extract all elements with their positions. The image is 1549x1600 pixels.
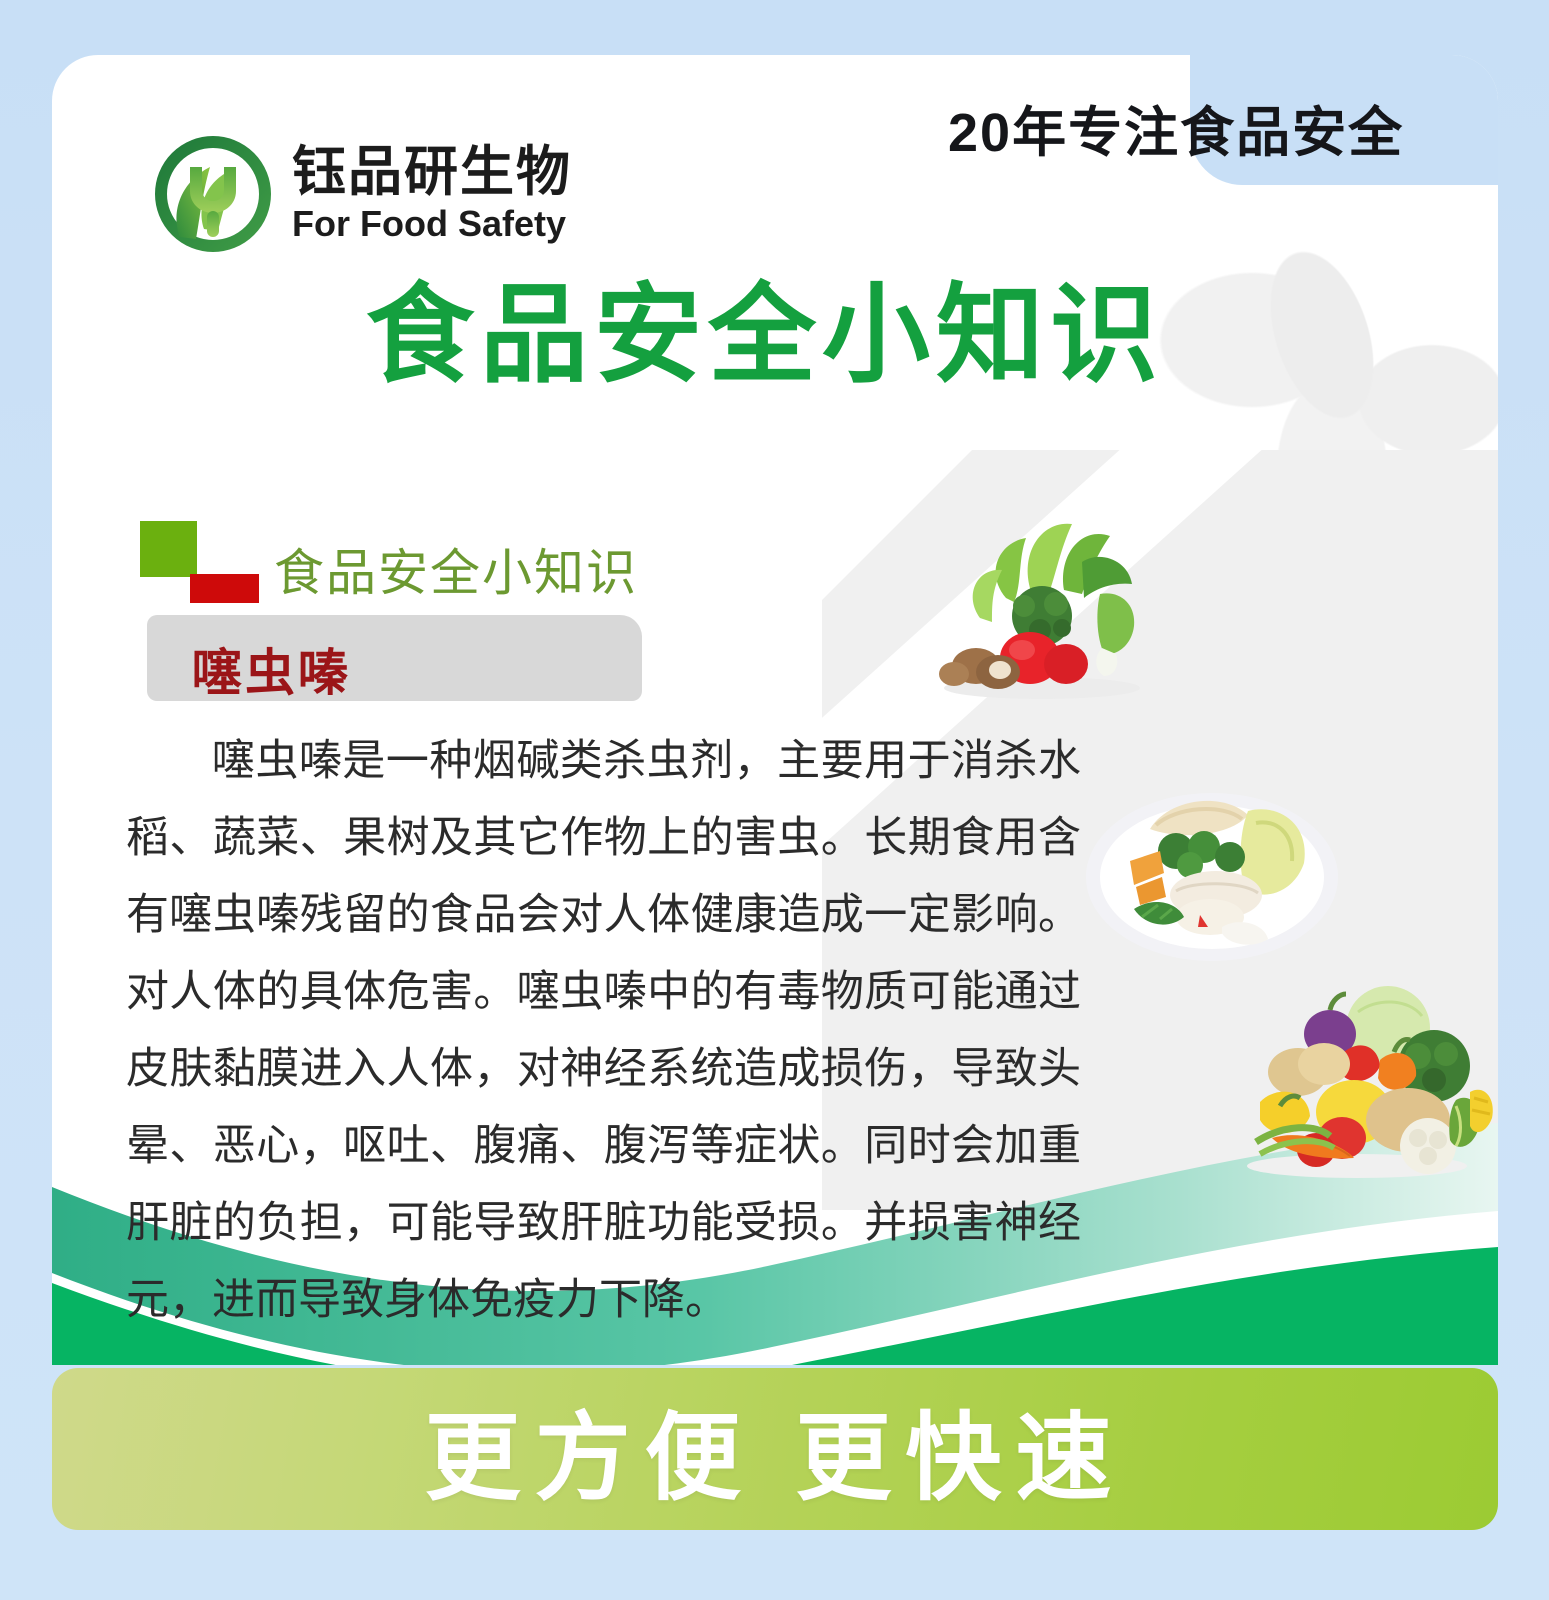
section-marker-green-square: [140, 521, 197, 577]
brand-name-en: For Food Safety: [292, 203, 572, 244]
substance-name: 噻虫嗪: [192, 633, 351, 705]
bottom-banner: 更方便 更快速: [52, 1368, 1498, 1530]
mixed-vegetables-photo: [1212, 960, 1497, 1190]
article-body: 噻虫嗪是一种烟碱类杀虫剂，主要用于消杀水稻、蔬菜、果树及其它作物上的害虫。长期食…: [126, 723, 1081, 1339]
brand-tagline: 20年专注食品安全: [948, 88, 1404, 167]
poster-root: 钰品研生物 For Food Safety 食品安全小知识 噻虫嗪 噻虫嗪是一种…: [0, 0, 1549, 1600]
leaf-circle-logo-icon: [152, 133, 274, 255]
splash-watermark-secondary-decoration: [1168, 174, 1477, 495]
bottom-banner-text: 更方便 更快速: [425, 1380, 1126, 1519]
brand-logo: 钰品研生物 For Food Safety: [152, 133, 572, 255]
section-heading: 食品安全小知识: [274, 533, 638, 605]
section-marker-red-bar: [190, 574, 259, 603]
brand-name-cn: 钰品研生物: [292, 144, 572, 201]
page-title: 食品安全小知识: [366, 248, 1164, 404]
vegetable-basket-photo: [914, 498, 1174, 703]
vegetable-plate-photo: [1072, 767, 1352, 967]
